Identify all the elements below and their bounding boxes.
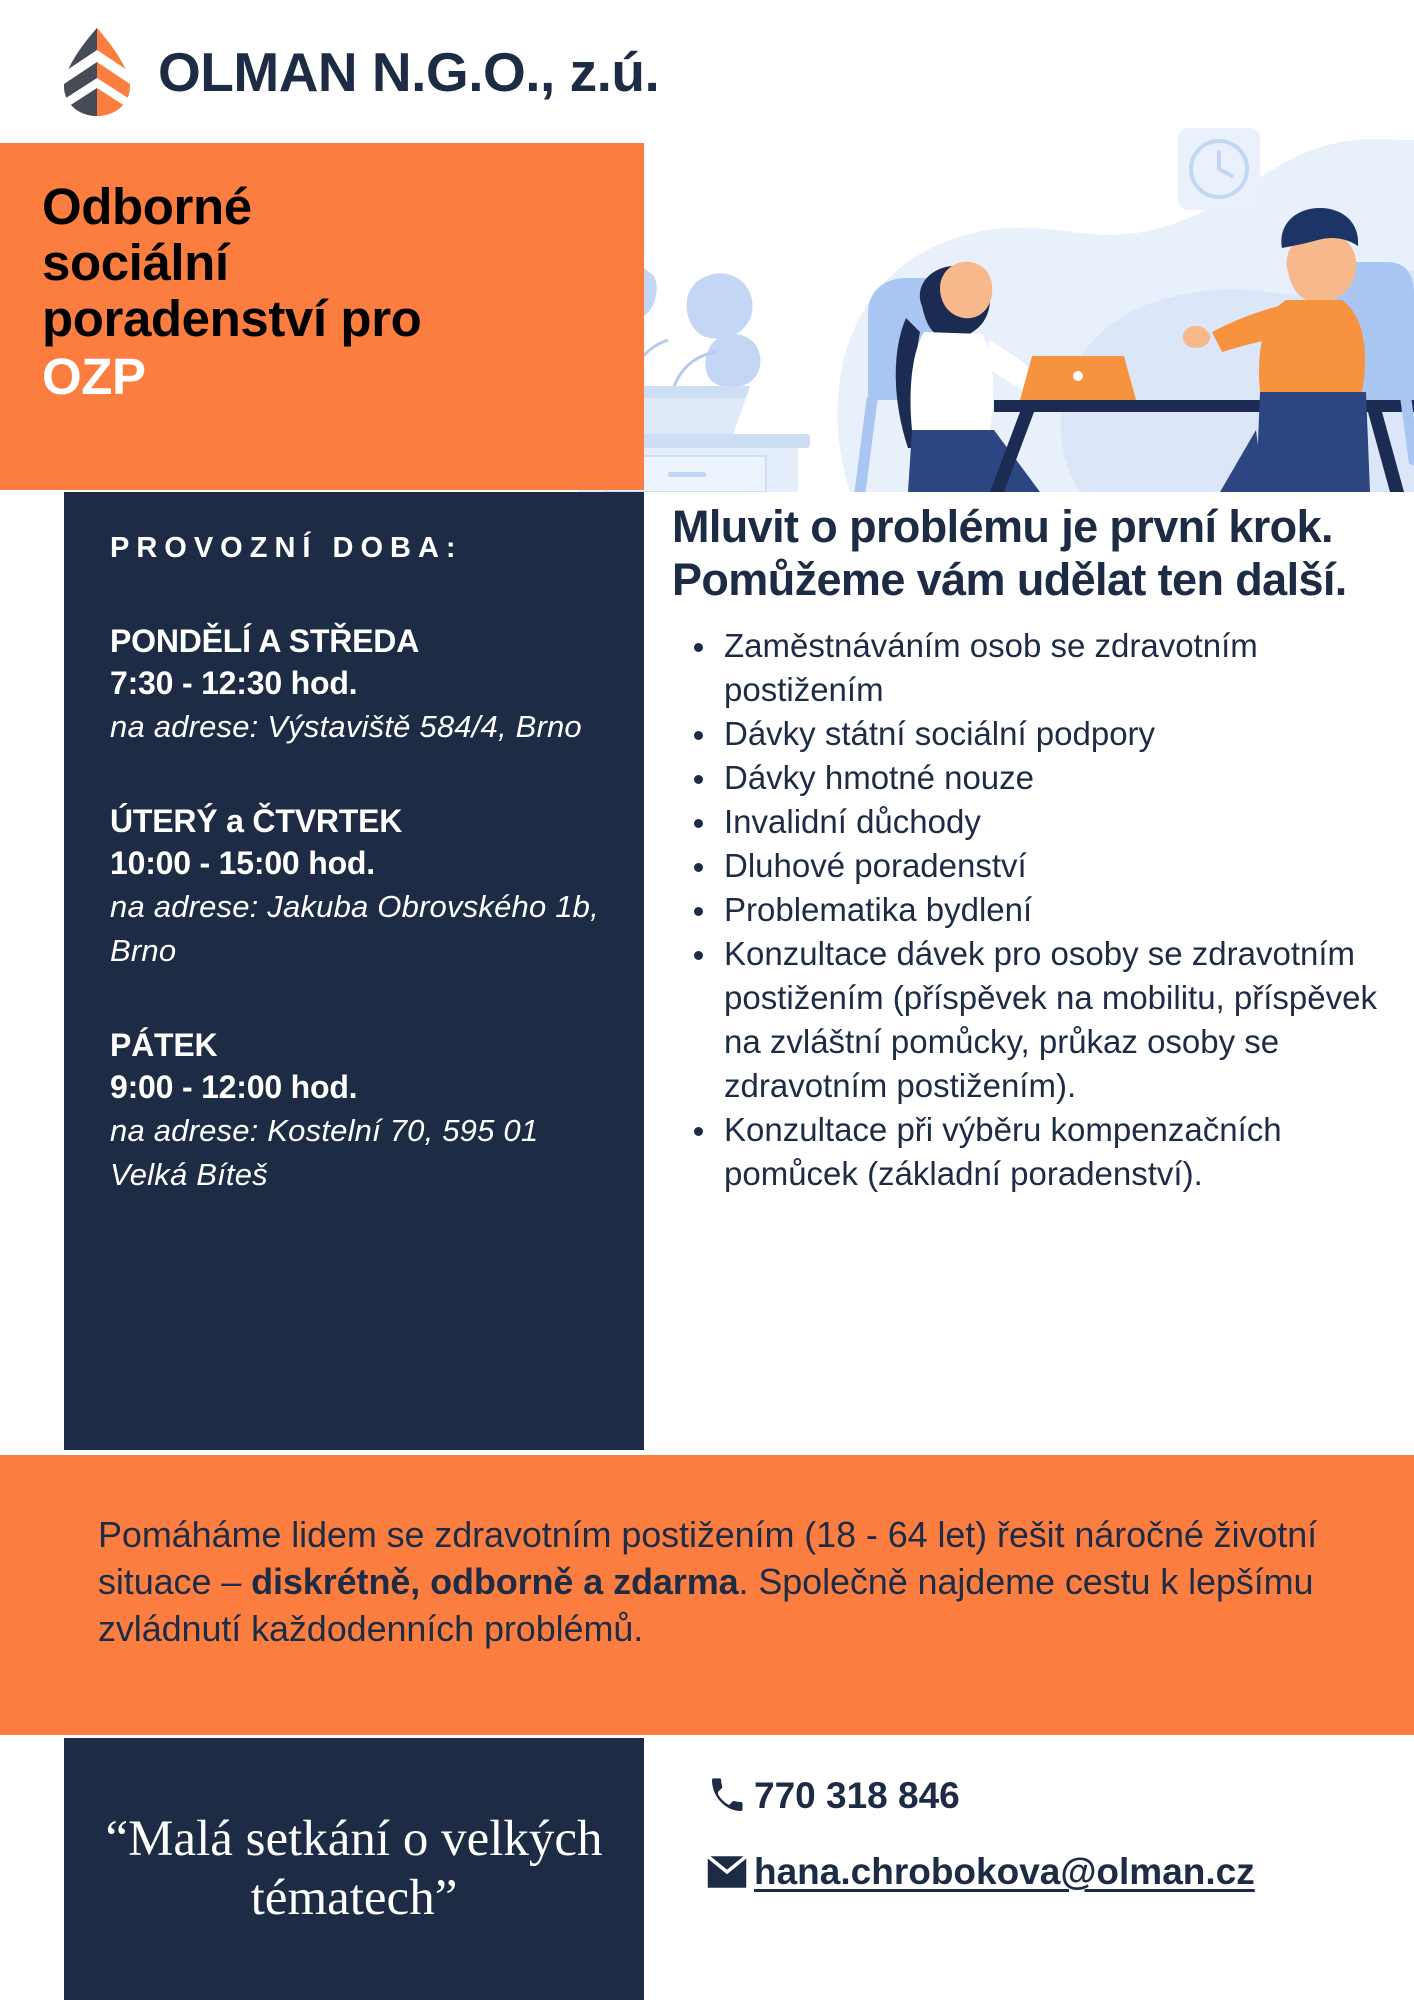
olman-leaf-logo-icon — [62, 26, 132, 118]
intro-paragraph: Pomáháme lidem se zdravotním postižením … — [98, 1511, 1318, 1652]
poster-title-block: Odborné sociální poradenství pro OZP — [0, 143, 644, 490]
hours-time: 7:30 - 12:30 hod. — [110, 661, 608, 705]
hours-time: 9:00 - 12:00 hod. — [110, 1065, 608, 1109]
hours-group: PONDĚLÍ A STŘEDA 7:30 - 12:30 hod. na ad… — [110, 621, 608, 749]
quote-text: “Malá setkání o velkých tématech” — [104, 1810, 604, 1928]
list-item: Zaměstnáváním osob se zdravotním postiže… — [672, 624, 1382, 712]
title-line-3: poradenství pro — [42, 291, 604, 347]
list-item: Konzultace při výběru kompenzačních pomů… — [672, 1108, 1382, 1196]
list-item: Konzultace dávek pro osoby se zdravotním… — [672, 932, 1382, 1108]
quote-block: “Malá setkání o velkých tématech” — [64, 1738, 644, 2000]
intro-band: Pomáháme lidem se zdravotním postižením … — [0, 1455, 1414, 1735]
contact-phone-row[interactable]: 770 318 846 — [700, 1775, 1400, 1817]
title-line-4-ozp: OZP — [42, 347, 604, 407]
title-line-2: sociální — [42, 235, 604, 291]
hours-address: na adrese: Jakuba Obrovského 1b, Brno — [110, 885, 608, 973]
list-item: Dávky hmotné nouze — [672, 756, 1382, 800]
intro-text-bold: diskrétně, odborně a zdarma — [251, 1561, 738, 1602]
hours-time: 10:00 - 15:00 hod. — [110, 841, 608, 885]
phone-number[interactable]: 770 318 846 — [754, 1775, 960, 1817]
services-panel: Mluvit o problému je první krok. Pomůžem… — [672, 500, 1382, 1196]
hours-group: PÁTEK 9:00 - 12:00 hod. na adrese: Koste… — [110, 1025, 608, 1197]
opening-hours-label: PROVOZNÍ DOBA: — [110, 532, 608, 565]
title-line-1: Odborné — [42, 179, 604, 235]
main-headline: Mluvit o problému je první krok. Pomůžem… — [672, 500, 1382, 606]
services-list: Zaměstnáváním osob se zdravotním postiže… — [672, 624, 1382, 1196]
hours-address: na adrese: Výstaviště 584/4, Brno — [110, 705, 608, 749]
email-address[interactable]: hana.chrobokova@olman.cz — [754, 1851, 1255, 1893]
hours-address: na adrese: Kostelní 70, 595 01 Velká Bít… — [110, 1109, 608, 1197]
contact-email-row[interactable]: hana.chrobokova@olman.cz — [700, 1851, 1400, 1893]
hours-day: PONDĚLÍ A STŘEDA — [110, 621, 608, 661]
phone-icon — [700, 1776, 754, 1816]
hours-group: ÚTERÝ a ČTVRTEK 10:00 - 15:00 hod. na ad… — [110, 801, 608, 973]
envelope-icon — [700, 1851, 754, 1893]
opening-hours-panel: PROVOZNÍ DOBA: PONDĚLÍ A STŘEDA 7:30 - 1… — [64, 492, 644, 1450]
hours-day: ÚTERÝ a ČTVRTEK — [110, 801, 608, 841]
contact-panel: 770 318 846 hana.chrobokova@olman.cz — [700, 1775, 1400, 1927]
hours-day: PÁTEK — [110, 1025, 608, 1065]
list-item: Problematika bydlení — [672, 888, 1382, 932]
brand-title: OLMAN N.G.O., z.ú. — [158, 40, 659, 104]
list-item: Invalidní důchody — [672, 800, 1382, 844]
two-people-consultation-illustration — [520, 100, 1414, 492]
list-item: Dluhové poradenství — [672, 844, 1382, 888]
list-item: Dávky státní sociální podpory — [672, 712, 1382, 756]
